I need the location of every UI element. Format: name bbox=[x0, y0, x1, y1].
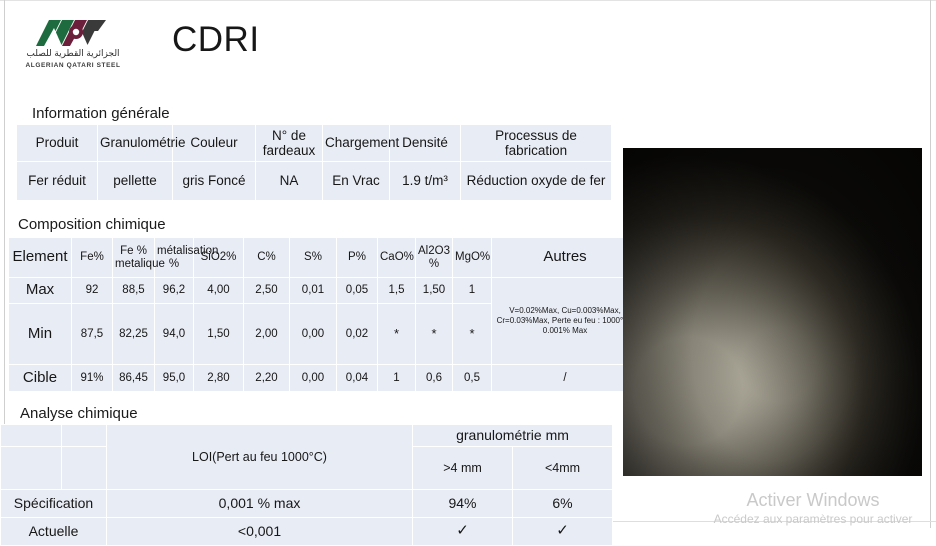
comp-header-cell: Al2O3 % bbox=[416, 238, 452, 277]
comp-cell: 88,5 bbox=[113, 278, 154, 303]
slide-top-rule bbox=[0, 0, 936, 1]
comp-cell: 95,0 bbox=[155, 365, 193, 391]
info-header-cell: Produit bbox=[17, 125, 97, 161]
comp-cell: 91% bbox=[72, 365, 112, 391]
comp-header-cell: S% bbox=[290, 238, 336, 277]
comp-cell: 96,2 bbox=[155, 278, 193, 303]
info-value-cell: Fer réduit bbox=[17, 162, 97, 200]
logo-arabic-text: الجزائرية القطرية للصلب bbox=[18, 48, 128, 59]
comp-cell: 0,5 bbox=[453, 365, 491, 391]
comp-cell: 82,25 bbox=[113, 304, 154, 364]
comp-cell: 0,01 bbox=[290, 278, 336, 303]
comp-row-label: Min bbox=[9, 304, 71, 364]
comp-cell: 1,50 bbox=[416, 278, 452, 303]
analyse-loi-cell: 0,001 % max bbox=[107, 490, 412, 517]
analyse-subheader-gt4: >4 mm bbox=[413, 447, 512, 489]
comp-header-cell: P% bbox=[337, 238, 377, 277]
section-caption-information: Information générale bbox=[32, 105, 170, 122]
comp-cell: 94,0 bbox=[155, 304, 193, 364]
info-value-cell: gris Foncé bbox=[173, 162, 255, 200]
comp-header-element: Element bbox=[9, 238, 71, 277]
info-value-cell: Réduction oxyde de fer bbox=[461, 162, 611, 200]
comp-header-cell: SiO2% bbox=[194, 238, 243, 277]
info-header-cell: Densité bbox=[390, 125, 460, 161]
comp-cell: 2,50 bbox=[244, 278, 289, 303]
info-value-cell: 1.9 t/m³ bbox=[390, 162, 460, 200]
analyse-row-label: Spécification bbox=[1, 490, 106, 517]
logo-mark-icon bbox=[18, 18, 128, 48]
section-caption-composition: Composition chimique bbox=[18, 216, 166, 233]
analyse-empty-cell-a bbox=[1, 425, 61, 446]
analyse-lt4-cell: ✓ bbox=[513, 518, 612, 545]
comp-row-label: Max bbox=[9, 278, 71, 303]
analyse-subheader-lt4: <4mm bbox=[513, 447, 612, 489]
information-generale-table: Produit Granulométrie Couleur N° de fard… bbox=[16, 124, 612, 201]
comp-header-autres: Autres bbox=[492, 238, 638, 277]
analyse-empty-cell-b bbox=[62, 447, 106, 489]
comp-cell: 4,00 bbox=[194, 278, 243, 303]
table-row: LOI(Pert au feu 1000°C) granulométrie mm bbox=[1, 425, 612, 446]
comp-cell: 1 bbox=[453, 278, 491, 303]
analyse-row-label: Actuelle bbox=[1, 518, 106, 545]
comp-cell: * bbox=[416, 304, 452, 364]
info-value-cell: pellette bbox=[98, 162, 172, 200]
iron-pellets-photo bbox=[623, 148, 922, 476]
analyse-loi-header: LOI(Pert au feu 1000°C) bbox=[107, 425, 412, 489]
comp-cell: 0,05 bbox=[337, 278, 377, 303]
logo-english-text: ALGERIAN QATARI STEEL bbox=[18, 62, 128, 69]
info-value-cell: NA bbox=[256, 162, 322, 200]
comp-cell: 0,02 bbox=[337, 304, 377, 364]
comp-autres-cell: / bbox=[492, 365, 638, 391]
analyse-gt4-cell: 94% bbox=[413, 490, 512, 517]
table-row: Produit Granulométrie Couleur N° de fard… bbox=[17, 125, 611, 161]
comp-header-cell: Fe% bbox=[72, 238, 112, 277]
info-header-cell: Chargement bbox=[323, 125, 389, 161]
table-row: Spécification 0,001 % max 94% 6% bbox=[1, 490, 612, 517]
comp-header-cell: MgO% bbox=[453, 238, 491, 277]
comp-cell: 2,80 bbox=[194, 365, 243, 391]
comp-cell: 0,6 bbox=[416, 365, 452, 391]
watermark-line-2: Accédez aux paramètres pour activer bbox=[690, 511, 936, 527]
table-row: Element Fe% Fe % metalique métalisation … bbox=[9, 238, 638, 277]
comp-autres-cell: V=0.02%Max, Cu=0.003%Max, Cr=0.03%Max, P… bbox=[492, 278, 638, 364]
table-row: Actuelle <0,001 ✓ ✓ bbox=[1, 518, 612, 545]
table-row: Fer réduit pellette gris Foncé NA En Vra… bbox=[17, 162, 611, 200]
comp-row-label: Cible bbox=[9, 365, 71, 391]
company-logo: الجزائرية القطرية للصلب ALGERIAN QATARI … bbox=[18, 18, 128, 73]
analyse-lt4-cell: 6% bbox=[513, 490, 612, 517]
comp-cell: 0,04 bbox=[337, 365, 377, 391]
comp-header-cell: C% bbox=[244, 238, 289, 277]
comp-cell: 0,00 bbox=[290, 365, 336, 391]
comp-cell: 87,5 bbox=[72, 304, 112, 364]
comp-cell: * bbox=[378, 304, 415, 364]
comp-cell: 0,00 bbox=[290, 304, 336, 364]
analyse-granulometrie-header: granulométrie mm bbox=[413, 425, 612, 446]
info-header-cell: N° de fardeaux bbox=[256, 125, 322, 161]
comp-cell: 1,5 bbox=[378, 278, 415, 303]
analyse-empty-cell-a bbox=[1, 447, 61, 489]
slide-right-rule bbox=[930, 0, 931, 528]
section-caption-analyse: Analyse chimique bbox=[20, 405, 138, 422]
comp-cell: 92 bbox=[72, 278, 112, 303]
table-row: Max 92 88,5 96,2 4,00 2,50 0,01 0,05 1,5… bbox=[9, 278, 638, 303]
page-title: CDRI bbox=[172, 22, 260, 57]
analyse-empty-cell-b bbox=[62, 425, 106, 446]
comp-header-cell: CaO% bbox=[378, 238, 415, 277]
comp-cell: 86,45 bbox=[113, 365, 154, 391]
comp-cell: * bbox=[453, 304, 491, 364]
info-header-cell: Processus de fabrication bbox=[461, 125, 611, 161]
info-header-cell: Granulométrie bbox=[98, 125, 172, 161]
table-row: Cible 91% 86,45 95,0 2,80 2,20 0,00 0,04… bbox=[9, 365, 638, 391]
watermark-line-1: Activer Windows bbox=[690, 489, 936, 511]
analyse-loi-cell: <0,001 bbox=[107, 518, 412, 545]
comp-cell: 2,00 bbox=[244, 304, 289, 364]
comp-cell: 1,50 bbox=[194, 304, 243, 364]
composition-chimique-table: Element Fe% Fe % metalique métalisation … bbox=[8, 237, 639, 392]
info-value-cell: En Vrac bbox=[323, 162, 389, 200]
comp-cell: 1 bbox=[378, 365, 415, 391]
comp-cell: 2,20 bbox=[244, 365, 289, 391]
slide-canvas: الجزائرية القطرية للصلب ALGERIAN QATARI … bbox=[0, 0, 936, 528]
comp-header-cell: Fe % metalique bbox=[113, 238, 154, 277]
analyse-gt4-cell: ✓ bbox=[413, 518, 512, 545]
photo-vignette-layer bbox=[623, 148, 922, 476]
